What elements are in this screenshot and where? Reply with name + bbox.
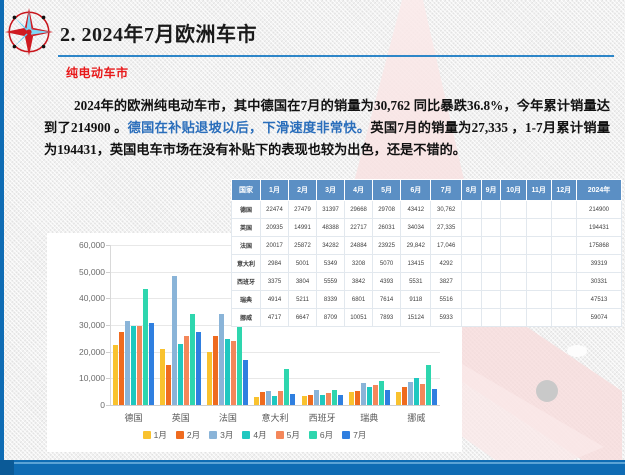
chart-bar[interactable] [314, 390, 319, 405]
body-paragraph: 2024年的欧洲纯电动车市，其中德国在7月的销量为30,762 同比暴跌36.8… [44, 95, 610, 161]
chart-y-tick-label: 30,000 [79, 320, 105, 330]
legend-color-swatch [276, 431, 284, 439]
table-cell [461, 309, 481, 327]
table-header-row: 国家1月2月3月4月5月6月7月8月9月10月11月12月2024年 [232, 180, 622, 201]
table-cell [551, 273, 576, 291]
chart-bar[interactable] [278, 391, 283, 405]
table-cell [461, 219, 481, 237]
chart-bar-group: 英国 [157, 245, 204, 405]
table-cell [526, 273, 551, 291]
chart-bar[interactable] [385, 390, 390, 405]
table-cell [526, 255, 551, 273]
chart-legend-item[interactable]: 2月 [176, 429, 200, 441]
legend-color-swatch [309, 431, 317, 439]
chart-x-tick-label: 挪威 [407, 411, 425, 424]
legend-label: 7月 [353, 429, 366, 441]
chart-bar[interactable] [284, 369, 289, 405]
table-cell [461, 291, 481, 309]
table-cell-country: 英国 [232, 219, 261, 237]
chart-bar[interactable] [260, 392, 265, 405]
table-cell: 34282 [317, 237, 345, 255]
table-cell: 10051 [345, 309, 373, 327]
table-cell [501, 309, 526, 327]
chart-bar[interactable] [196, 332, 201, 405]
table-cell: 23925 [373, 237, 401, 255]
table-cell [501, 201, 526, 219]
legend-color-swatch [209, 431, 217, 439]
table-cell: 48388 [317, 219, 345, 237]
chart-bar[interactable] [160, 349, 165, 405]
chart-y-tick-label: 20,000 [79, 347, 105, 357]
table-cell [481, 201, 501, 219]
table-cell: 25872 [289, 237, 317, 255]
decorative-gray-circle [536, 380, 558, 402]
slide-canvas: 2. 2024年7月欧洲车市 纯电动车市 2024年的欧洲纯电动车市，其中德国在… [0, 0, 625, 475]
table-col-header: 7月 [431, 180, 461, 201]
chart-bar[interactable] [290, 394, 295, 405]
table-cell: 3375 [261, 273, 289, 291]
table-cell: 29,842 [401, 237, 431, 255]
chart-x-tick-label: 法国 [219, 411, 237, 424]
table-cell: 27,335 [431, 219, 461, 237]
chart-y-tick-label: 10,000 [79, 373, 105, 383]
chart-bar[interactable] [426, 365, 431, 405]
chart-bar[interactable] [166, 365, 171, 405]
chart-y-tickmark [106, 405, 110, 406]
table-col-header: 10月 [501, 180, 526, 201]
table-cell: 26031 [373, 219, 401, 237]
table-cell: 175868 [577, 237, 622, 255]
table-row: 挪威47176647870910051789315124593359074 [232, 309, 622, 327]
table-cell [501, 219, 526, 237]
chart-bar[interactable] [320, 395, 325, 405]
table-row: 英国20935149914838822717260313403427,33519… [232, 219, 622, 237]
table-cell: 6801 [345, 291, 373, 309]
chart-legend-item[interactable]: 7月 [342, 429, 366, 441]
chart-bar[interactable] [184, 336, 189, 405]
table-cell [526, 309, 551, 327]
legend-label: 4月 [253, 429, 266, 441]
left-accent-rail [0, 0, 4, 475]
table-cell: 5349 [317, 255, 345, 273]
table-col-header: 8月 [461, 180, 481, 201]
table-col-header: 5月 [373, 180, 401, 201]
table-cell: 20017 [261, 237, 289, 255]
table-cell-country: 瑞典 [232, 291, 261, 309]
table-cell [501, 273, 526, 291]
bottom-accent-rail-highlight [0, 462, 625, 464]
chart-bar[interactable] [349, 392, 354, 405]
chart-bar-group: 德国 [110, 245, 157, 405]
table-col-header: 国家 [232, 180, 261, 201]
legend-label: 1月 [154, 429, 167, 441]
table-cell: 14991 [289, 219, 317, 237]
table-cell [551, 237, 576, 255]
table-cell: 8709 [317, 309, 345, 327]
table-col-header: 1月 [261, 180, 289, 201]
chart-bar[interactable] [302, 396, 307, 405]
legend-label: 2月 [187, 429, 200, 441]
chart-bar[interactable] [272, 396, 277, 405]
table-cell: 43412 [401, 201, 431, 219]
table-cell: 3208 [345, 255, 373, 273]
sales-data-table: 国家1月2月3月4月5月6月7月8月9月10月11月12月2024年 德国224… [231, 179, 622, 327]
table-cell: 5516 [431, 291, 461, 309]
table-cell [526, 237, 551, 255]
table-cell: 29708 [373, 201, 401, 219]
table-cell: 214900 [577, 201, 622, 219]
legend-color-swatch [242, 431, 250, 439]
chart-bar[interactable] [113, 345, 118, 405]
table-cell: 13415 [401, 255, 431, 273]
table-cell-country: 法国 [232, 237, 261, 255]
table-col-header: 11月 [526, 180, 551, 201]
table-col-header: 9月 [481, 180, 501, 201]
table-cell [481, 273, 501, 291]
chart-legend-item[interactable]: 5月 [276, 429, 300, 441]
table-cell: 29668 [345, 201, 373, 219]
table-cell: 4914 [261, 291, 289, 309]
chart-bar[interactable] [149, 323, 154, 405]
bottom-left-accent-block [0, 460, 14, 475]
table-cell: 194431 [577, 219, 622, 237]
table-cell: 5933 [431, 309, 461, 327]
table-cell: 5559 [317, 273, 345, 291]
legend-label: 6月 [320, 429, 333, 441]
chart-x-tick-label: 西班牙 [309, 411, 336, 424]
table-col-header: 3月 [317, 180, 345, 201]
table-row: 瑞典491452118339680176149118551647513 [232, 291, 622, 309]
table-row: 德国22474274793139729668297084341230,76221… [232, 201, 622, 219]
chart-bar[interactable] [131, 326, 136, 405]
chart-y-tick-label: 60,000 [79, 240, 105, 250]
chart-bar[interactable] [219, 314, 224, 405]
table-cell: 24884 [345, 237, 373, 255]
chart-bar[interactable] [332, 390, 337, 405]
chart-bar[interactable] [190, 314, 195, 405]
chart-bar[interactable] [402, 387, 407, 405]
chart-bar[interactable] [172, 276, 177, 405]
table-cell-country: 意大利 [232, 255, 261, 273]
table-cell: 6647 [289, 309, 317, 327]
chart-bar[interactable] [231, 341, 236, 405]
table-cell: 15124 [401, 309, 431, 327]
table-row: 西班牙337538045559384243935531382730331 [232, 273, 622, 291]
chart-bar[interactable] [367, 387, 372, 405]
table-row: 意大利2984500153493208507013415429239319 [232, 255, 622, 273]
table-cell [501, 255, 526, 273]
table-cell: 5001 [289, 255, 317, 273]
table-cell [481, 309, 501, 327]
chart-x-tick-label: 德国 [125, 411, 143, 424]
chart-x-tick-label: 意大利 [261, 411, 288, 424]
chart-bar[interactable] [207, 352, 212, 405]
table-cell [461, 255, 481, 273]
chart-bar[interactable] [379, 381, 384, 405]
decorative-white-ellipse [567, 345, 587, 357]
chart-bar[interactable] [432, 389, 437, 405]
chart-bar[interactable] [254, 397, 259, 405]
chart-bar[interactable] [326, 393, 331, 405]
legend-color-swatch [143, 431, 151, 439]
table-col-header: 2024年 [577, 180, 622, 201]
compass-rose-icon [3, 6, 55, 58]
chart-bar[interactable] [143, 289, 148, 405]
chart-legend-item[interactable]: 1月 [143, 429, 167, 441]
table-cell: 30,762 [431, 201, 461, 219]
chart-bar[interactable] [355, 391, 360, 405]
table-cell [461, 273, 481, 291]
chart-bar[interactable] [178, 344, 183, 405]
table-col-header: 6月 [401, 180, 431, 201]
table-cell [501, 291, 526, 309]
table-cell: 5531 [401, 273, 431, 291]
section-subheading: 纯电动车市 [66, 64, 129, 81]
legend-color-swatch [176, 431, 184, 439]
table-cell: 5211 [289, 291, 317, 309]
table-cell [526, 291, 551, 309]
chart-legend: 1月2月3月4月5月6月7月 [47, 429, 462, 441]
page-title: 2. 2024年7月欧洲车市 [60, 18, 257, 47]
table-cell: 47513 [577, 291, 622, 309]
table-cell: 22717 [345, 219, 373, 237]
table-cell: 8339 [317, 291, 345, 309]
table-cell [481, 219, 501, 237]
chart-bar[interactable] [338, 395, 343, 405]
table-cell [526, 201, 551, 219]
table-cell: 4393 [373, 273, 401, 291]
table-cell: 27479 [289, 201, 317, 219]
chart-bar[interactable] [408, 382, 413, 405]
table-row: 法国200172587234282248842392529,84217,0461… [232, 237, 622, 255]
chart-bar[interactable] [420, 384, 425, 405]
table-cell: 31397 [317, 201, 345, 219]
table-cell: 5070 [373, 255, 401, 273]
table-cell [551, 309, 576, 327]
legend-label: 3月 [220, 429, 233, 441]
chart-bar[interactable] [414, 378, 419, 405]
chart-y-tick-label: 50,000 [79, 267, 105, 277]
chart-bar[interactable] [266, 391, 271, 405]
table-cell [481, 255, 501, 273]
table-col-header: 4月 [345, 180, 373, 201]
table-cell-country: 挪威 [232, 309, 261, 327]
chart-bar[interactable] [137, 326, 142, 405]
chart-bar[interactable] [243, 360, 248, 405]
table-cell: 2984 [261, 255, 289, 273]
table-cell: 59074 [577, 309, 622, 327]
table-body: 德国22474274793139729668297084341230,76221… [232, 201, 622, 327]
chart-legend-item[interactable]: 4月 [242, 429, 266, 441]
table-cell: 22474 [261, 201, 289, 219]
chart-bar[interactable] [373, 385, 378, 405]
table-cell [481, 237, 501, 255]
table-cell: 39319 [577, 255, 622, 273]
table-cell [461, 201, 481, 219]
table-cell: 3842 [345, 273, 373, 291]
table-cell-country: 西班牙 [232, 273, 261, 291]
table-cell [551, 201, 576, 219]
legend-color-swatch [342, 431, 350, 439]
legend-label: 5月 [287, 429, 300, 441]
body-segment-highlight: 德国在补贴退坡以后，下滑速度非常快。 [128, 120, 371, 135]
chart-legend-item[interactable]: 6月 [309, 429, 333, 441]
table-col-header: 2月 [289, 180, 317, 201]
table-cell: 20935 [261, 219, 289, 237]
table-cell [461, 237, 481, 255]
header-divider [58, 55, 614, 57]
table-cell: 3827 [431, 273, 461, 291]
chart-bar[interactable] [396, 392, 401, 405]
table-col-header: 12月 [551, 180, 576, 201]
chart-bar[interactable] [361, 383, 366, 405]
table-cell: 4292 [431, 255, 461, 273]
chart-x-tick-label: 英国 [172, 411, 190, 424]
table-cell: 7614 [373, 291, 401, 309]
table-cell [551, 291, 576, 309]
table-cell [481, 291, 501, 309]
chart-bar[interactable] [237, 325, 242, 405]
chart-bar[interactable] [213, 336, 218, 405]
table-cell: 3804 [289, 273, 317, 291]
chart-y-tick-label: 0 [100, 400, 105, 410]
chart-x-tick-label: 瑞典 [360, 411, 378, 424]
chart-y-tick-label: 40,000 [79, 293, 105, 303]
table-cell-country: 德国 [232, 201, 261, 219]
table-cell [526, 219, 551, 237]
table-cell: 17,046 [431, 237, 461, 255]
chart-bar[interactable] [119, 332, 124, 405]
chart-bar[interactable] [308, 395, 313, 405]
chart-bar[interactable] [125, 321, 130, 405]
table-cell [551, 255, 576, 273]
table-cell [551, 219, 576, 237]
table-cell: 7893 [373, 309, 401, 327]
table-cell: 34034 [401, 219, 431, 237]
table-cell: 9118 [401, 291, 431, 309]
table-cell [501, 237, 526, 255]
chart-gridline [110, 405, 440, 406]
table-cell: 30331 [577, 273, 622, 291]
chart-legend-item[interactable]: 3月 [209, 429, 233, 441]
chart-bar[interactable] [225, 339, 230, 405]
table-cell: 4717 [261, 309, 289, 327]
